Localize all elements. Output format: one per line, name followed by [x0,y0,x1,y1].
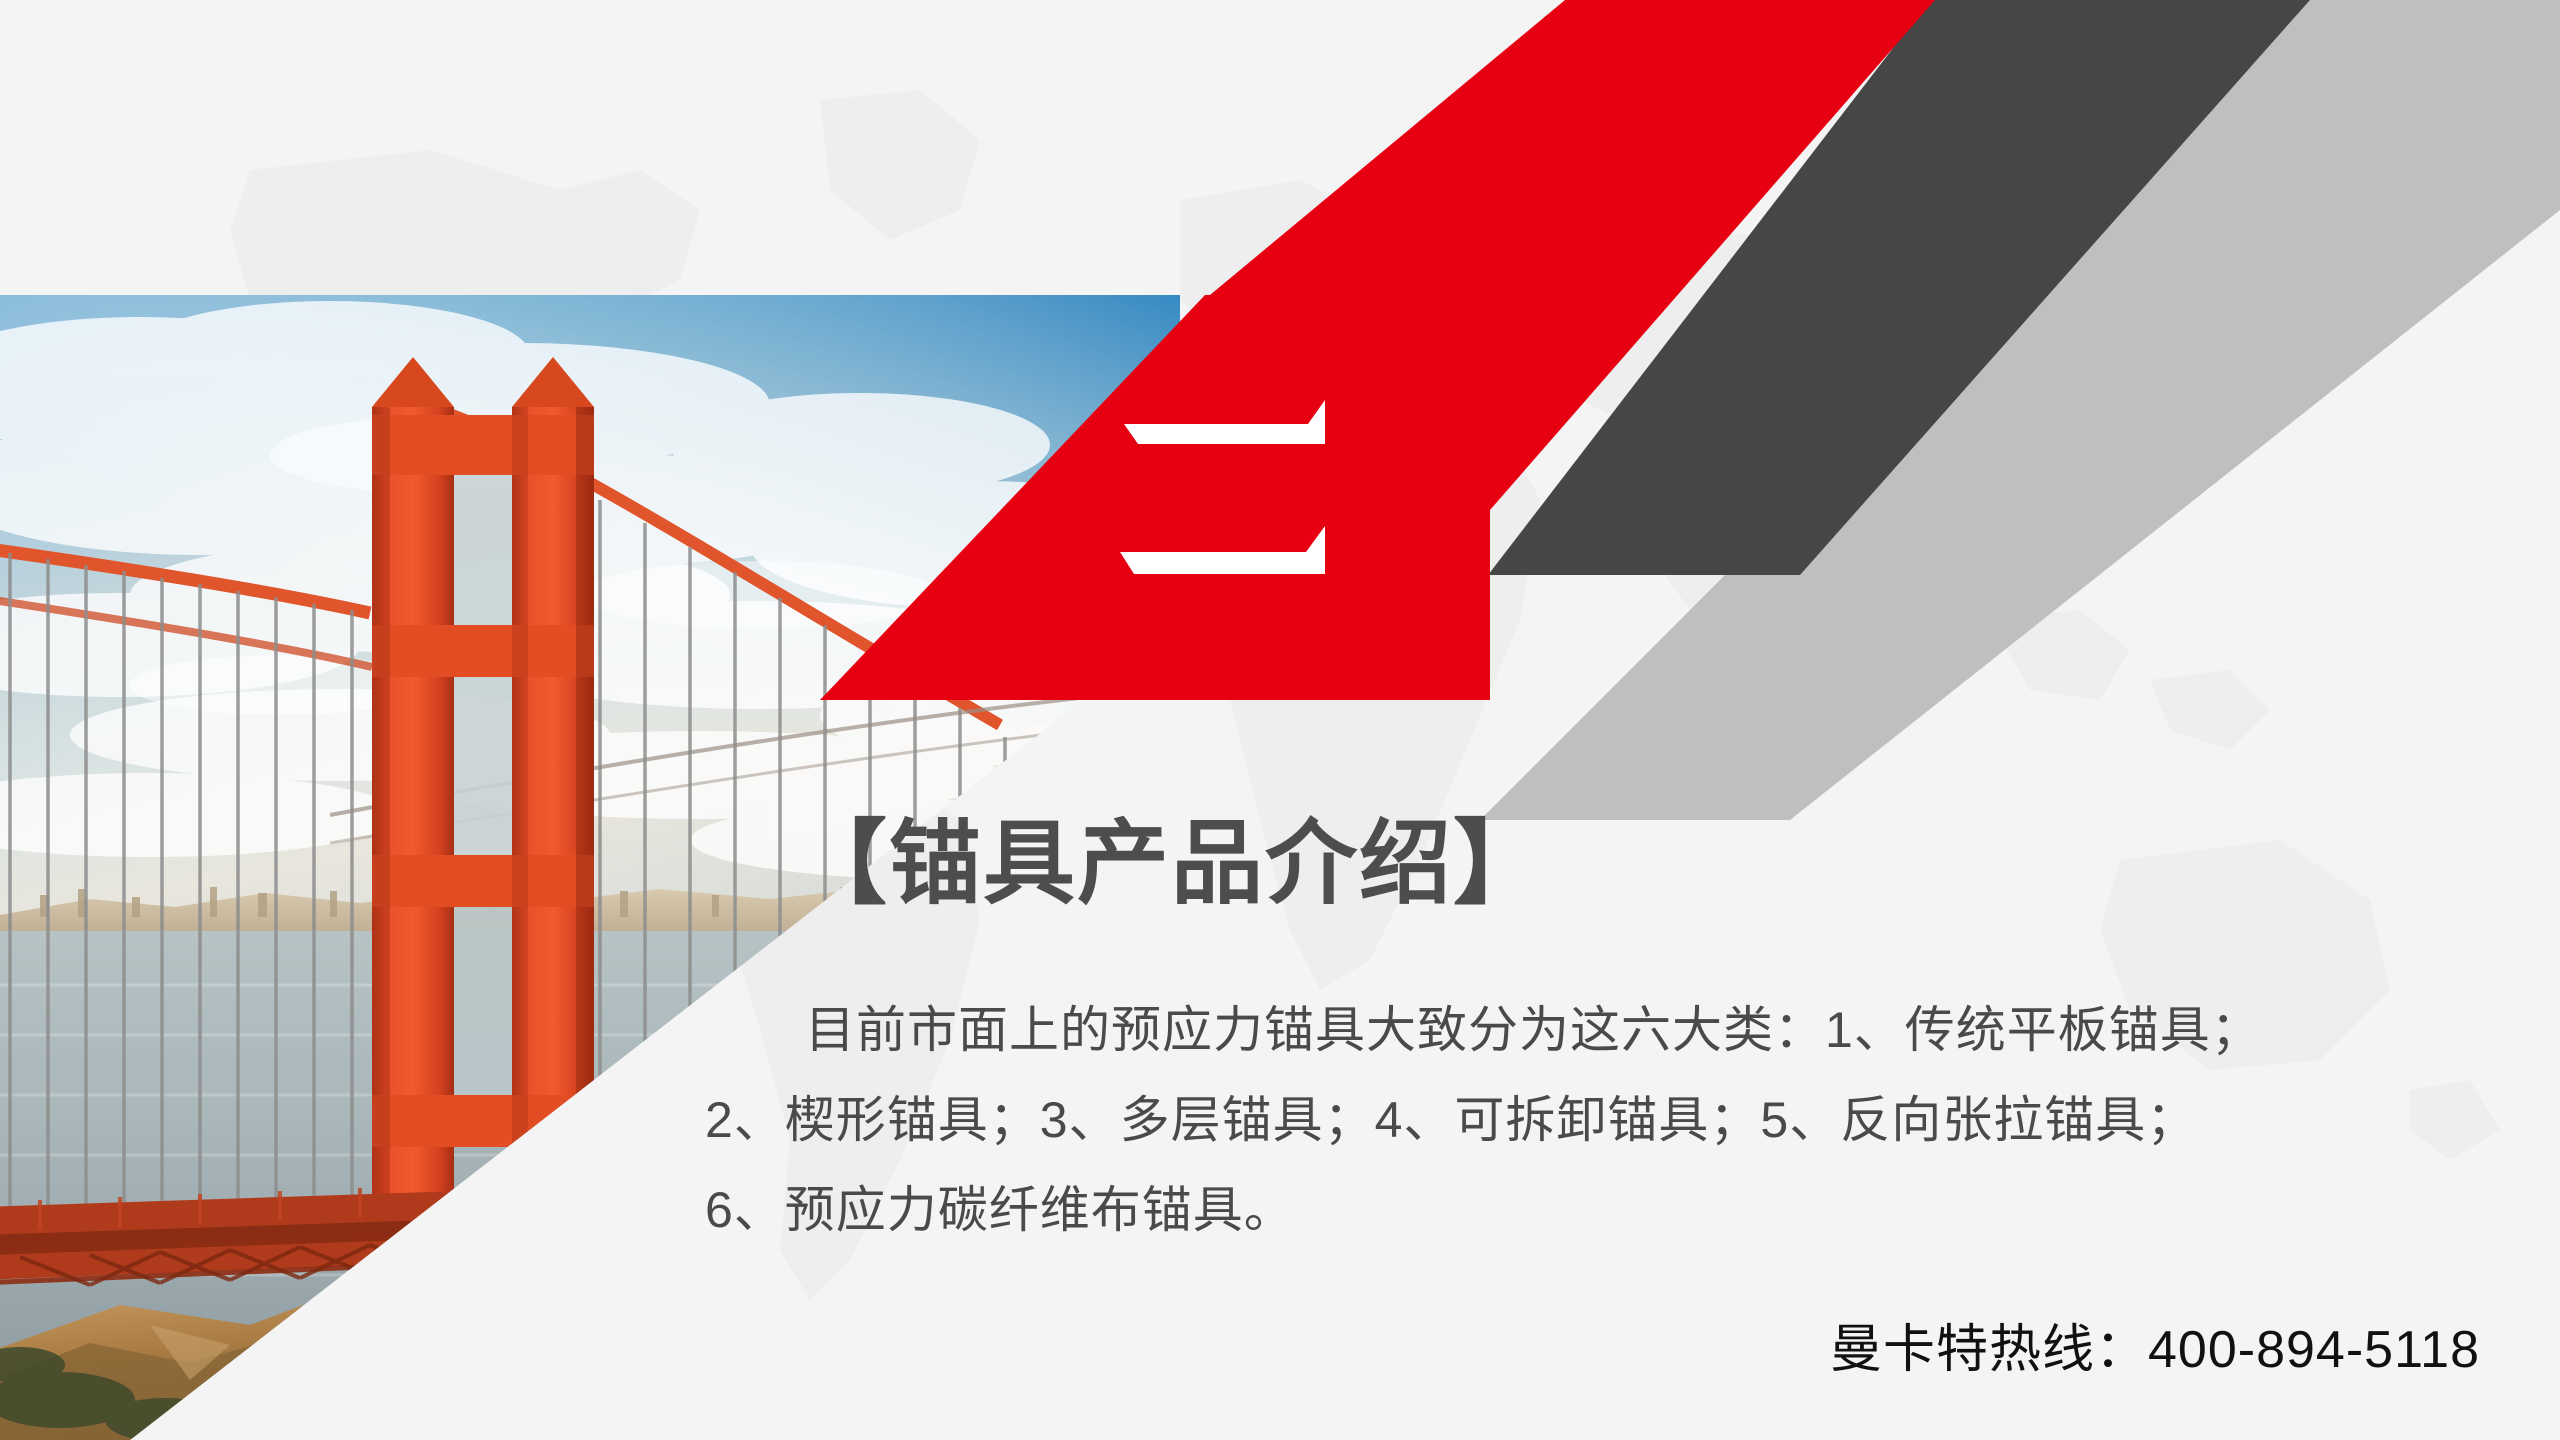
body-line-2: 2、楔形锚具；3、多层锚具；4、可拆卸锚具；5、反向张拉锚具； [705,1075,2325,1165]
body-paragraph: 目前市面上的预应力锚具大致分为这六大类：1、传统平板锚具； 2、楔形锚具；3、多… [705,985,2325,1255]
body-line-3: 6、预应力碳纤维布锚具。 [705,1165,2325,1255]
light-gray-ribbon [1480,0,2560,820]
presentation-slide: 【锚具产品介绍】 目前市面上的预应力锚具大致分为这六大类：1、传统平板锚具； 2… [0,0,2560,1440]
section-number-two [1120,392,1330,592]
hotline-footer: 曼卡特热线：400-894-5118 [1830,1307,2480,1382]
page-title: 【锚具产品介绍】 [795,818,1547,910]
dark-gray-ribbon [1488,0,2310,575]
body-line-1: 目前市面上的预应力锚具大致分为这六大类：1、传统平板锚具； [705,985,2325,1075]
